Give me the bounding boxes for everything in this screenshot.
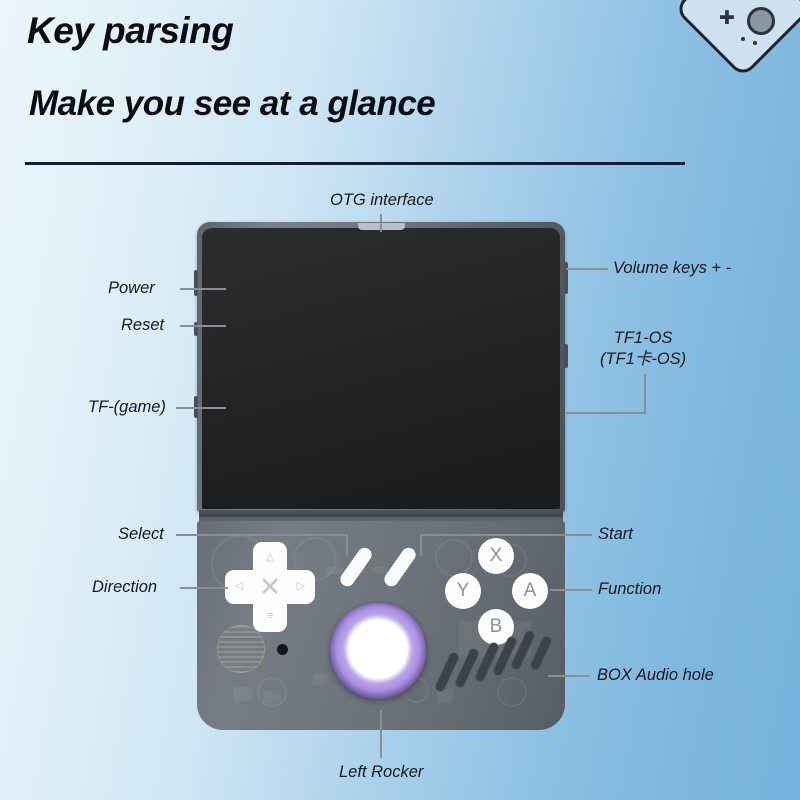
gamepad-icon-inner: ✚ [697, 0, 789, 55]
dpad-left-icon[interactable]: ◁ [230, 581, 248, 592]
shell-internal-detail [313, 673, 327, 685]
button-x[interactable]: X [478, 538, 514, 574]
gamepad-icon: ✚ [674, 0, 800, 78]
page-title: Key parsing [27, 10, 233, 52]
dpad-center-x-icon: ✕ [254, 571, 286, 603]
volume-keys[interactable] [564, 262, 568, 294]
callout-volume-keys: Volume keys + - [613, 258, 731, 279]
callout-box-audio-hole: BOX Audio hole [597, 665, 714, 686]
leader-line-tf-game [176, 407, 226, 409]
callout-power: Power [108, 278, 155, 299]
select-button[interactable] [338, 545, 375, 589]
audio-slot [434, 651, 461, 693]
leader-line-start-horizontal [420, 534, 592, 536]
leader-line-otg [380, 214, 382, 232]
header: Key parsing Make you see at a glance ✚ [0, 0, 800, 175]
shell-internal-detail [233, 687, 253, 701]
console-screen-shell [197, 222, 565, 512]
infographic-page: Key parsing Make you see at a glance ✚ [0, 0, 800, 800]
speaker-decal [217, 625, 265, 673]
dpad-down-icon[interactable]: ≡ [261, 611, 279, 622]
button-a[interactable]: A [512, 573, 548, 609]
callout-select: Select [118, 524, 164, 545]
gamepad-icon-dot [753, 41, 757, 45]
leader-line-select-horizontal [176, 534, 348, 536]
leader-line-direction [180, 587, 228, 589]
callout-left-rocker: Left Rocker [339, 762, 423, 783]
left-rocker-stick[interactable] [330, 603, 426, 699]
gamepad-icon-dpad: ✚ [717, 9, 737, 29]
handheld-console: ✕ △ ≡ ◁ ▷ X Y A B [197, 222, 565, 730]
start-button[interactable] [382, 545, 419, 589]
microphone-hole [277, 644, 288, 655]
leader-line-box-audio [548, 675, 590, 677]
direction-pad[interactable]: ✕ △ ≡ ◁ ▷ [225, 542, 315, 632]
gamepad-icon-stick [747, 7, 775, 35]
header-divider [25, 162, 685, 165]
leader-line-function [550, 589, 592, 591]
shell-internal-detail [373, 567, 387, 574]
console-control-shell: ✕ △ ≡ ◁ ▷ X Y A B [197, 521, 565, 730]
console-display [202, 228, 560, 509]
callout-direction: Direction [92, 577, 157, 598]
shell-internal-detail [325, 567, 343, 574]
callout-tf1-os: TF1-OS (TF1卡-OS) [600, 328, 686, 370]
dpad-right-icon[interactable]: ▷ [292, 581, 310, 592]
leader-line-select-vertical [346, 534, 348, 556]
shell-internal-detail [257, 677, 287, 707]
callout-tf1-os-line2: (TF1卡-OS) [600, 349, 686, 370]
shell-internal-detail [435, 539, 473, 577]
dpad-up-icon[interactable]: △ [261, 552, 279, 563]
leader-line-reset [180, 325, 226, 327]
callout-function: Function [598, 579, 661, 600]
leader-line-volume [566, 268, 608, 270]
callout-tf-game: TF-(game) [88, 397, 166, 418]
button-y[interactable]: Y [445, 573, 481, 609]
callout-reset: Reset [121, 315, 164, 336]
callout-otg-interface: OTG interface [330, 190, 434, 211]
leader-line-tf1-vertical [644, 374, 646, 414]
leader-line-start-vertical [420, 534, 422, 556]
box-audio-hole [442, 633, 552, 693]
gamepad-icon-dot [741, 37, 745, 41]
leader-line-power [180, 288, 226, 290]
callout-start: Start [598, 524, 633, 545]
callout-tf1-os-line1: TF1-OS [600, 328, 686, 349]
power-button[interactable] [194, 270, 198, 296]
leader-line-left-rocker [380, 710, 382, 758]
page-subtitle: Make you see at a glance [29, 84, 435, 124]
tf1-os-card-slot[interactable] [564, 344, 568, 368]
leader-line-tf1-horizontal [566, 412, 646, 414]
